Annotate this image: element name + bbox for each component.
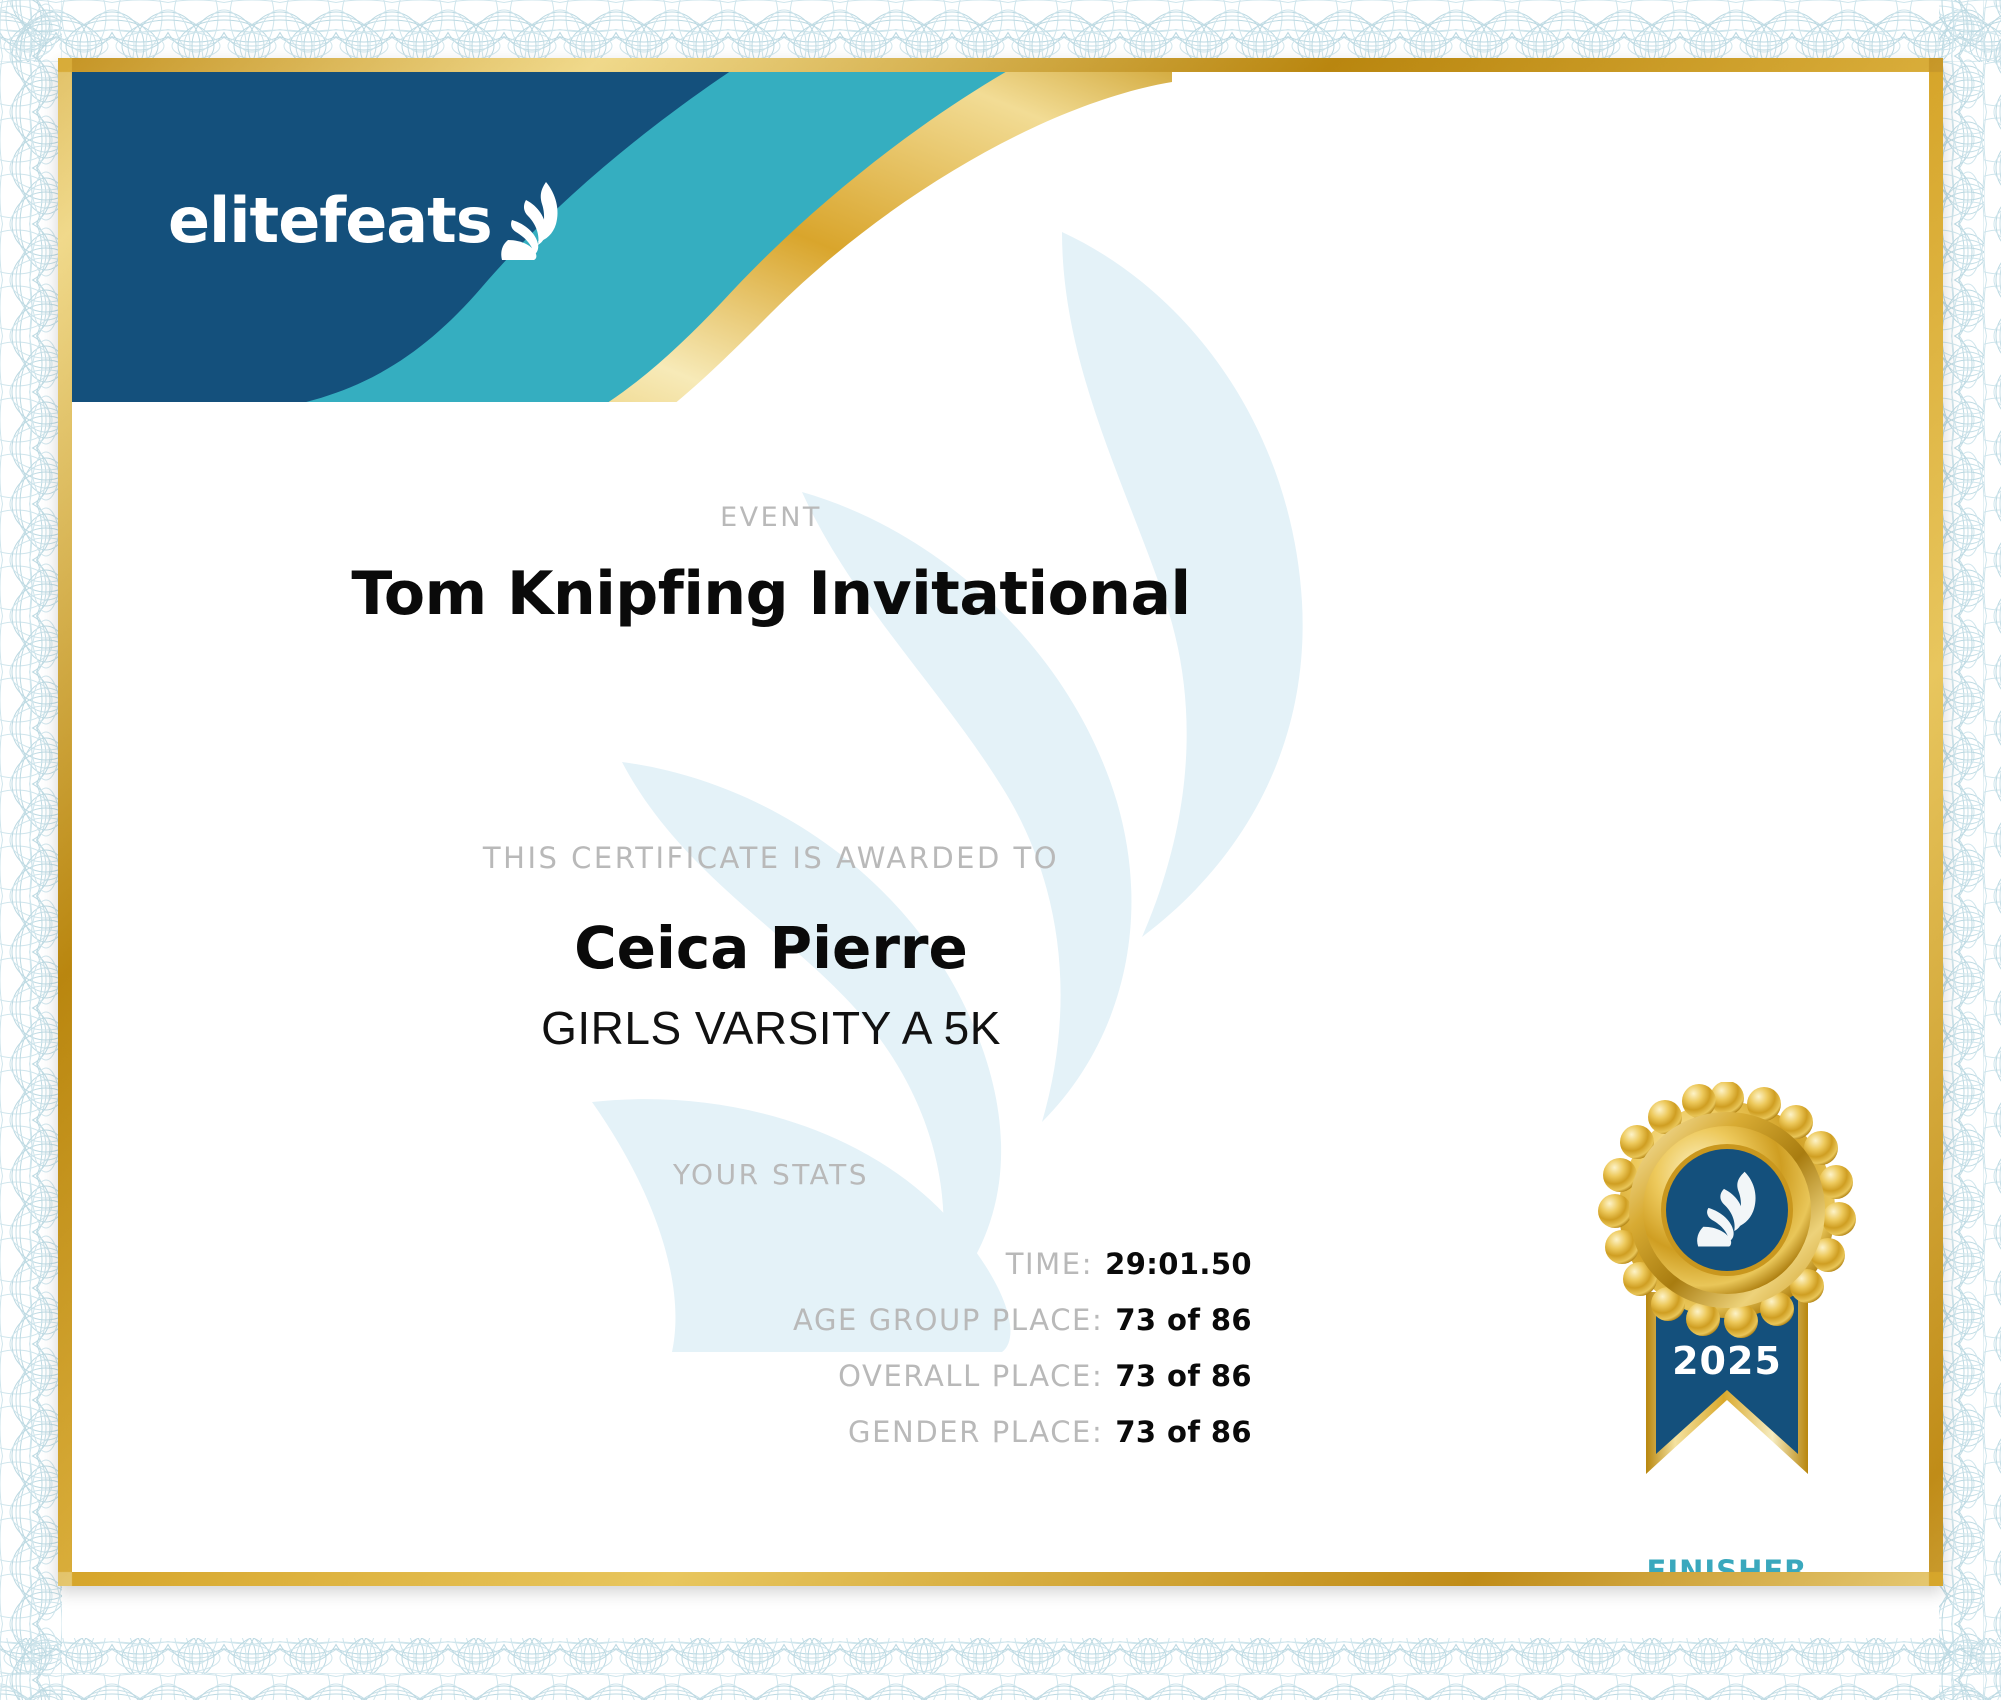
certificate-card: elitefeats EVENT Tom Knipfing Invit (58, 58, 1943, 1586)
certificate-content: EVENT Tom Knipfing Invitational THIS CER… (72, 72, 1929, 1572)
stat-key: OVERALL PLACE: (838, 1359, 1103, 1393)
stat-value: 29:01.50 (1105, 1247, 1252, 1281)
certificate-page: elitefeats EVENT Tom Knipfing Invit (0, 0, 2001, 1700)
stats-list: TIME: 29:01.50 AGE GROUP PLACE: 73 of 86… (72, 1247, 1252, 1471)
stat-row: OVERALL PLACE: 73 of 86 (72, 1359, 1252, 1393)
winged-foot-icon (498, 180, 570, 262)
stat-value: 73 of 86 (1115, 1303, 1252, 1337)
stats-label: YOUR STATS (72, 1158, 1470, 1191)
brand-logo-text: elitefeats (168, 190, 492, 252)
stat-key: GENDER PLACE: (848, 1415, 1103, 1449)
stat-row: AGE GROUP PLACE: 73 of 86 (72, 1303, 1252, 1337)
medal-caption: FINISHER CERTIFICATE (1567, 1555, 1887, 1572)
svg-text:2025: 2025 (1672, 1339, 1782, 1383)
stat-row: GENDER PLACE: 73 of 86 (72, 1415, 1252, 1449)
event-label: EVENT (72, 502, 1470, 533)
medal-caption-line1: FINISHER (1567, 1555, 1887, 1572)
stat-value: 73 of 86 (1115, 1415, 1252, 1449)
stat-key: TIME: (1006, 1247, 1093, 1281)
awarded-to-label: THIS CERTIFICATE IS AWARDED TO (72, 841, 1470, 875)
stat-key: AGE GROUP PLACE: (793, 1303, 1103, 1337)
division-name: GIRLS VARSITY A 5K (72, 1001, 1470, 1055)
event-name: Tom Knipfing Invitational (72, 559, 1470, 629)
stat-row: TIME: 29:01.50 (72, 1247, 1252, 1281)
recipient-name: Ceica Pierre (72, 914, 1470, 982)
finisher-medal-badge: 2025 (1582, 1082, 1872, 1552)
brand-logo: elitefeats (168, 180, 570, 262)
stat-value: 73 of 86 (1115, 1359, 1252, 1393)
